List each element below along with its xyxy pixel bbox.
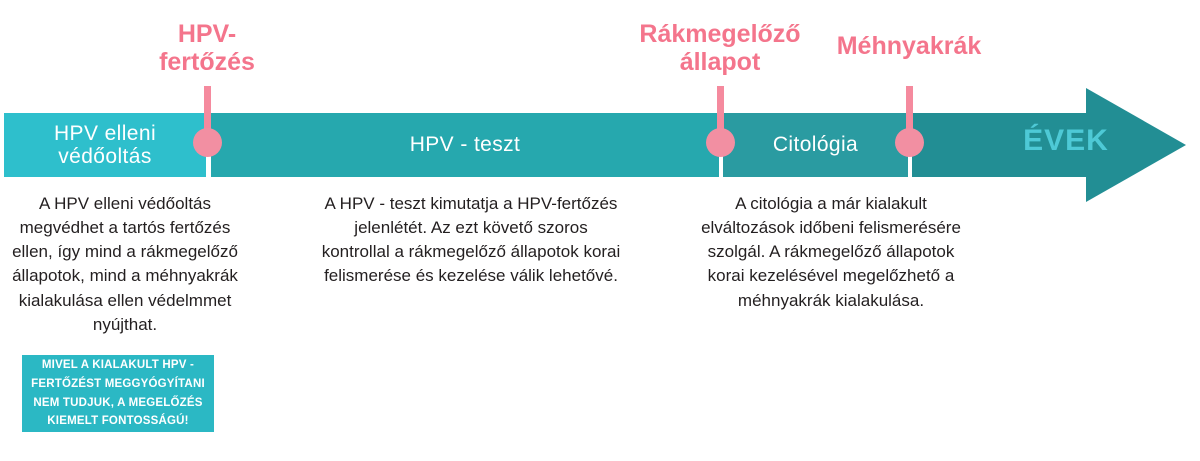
marker-cervical-cancer-label: Méhnyakrák	[759, 32, 1059, 60]
description-hpv-test: A HPV - teszt kimutatja a HPV-fertőzés j…	[320, 192, 622, 289]
description-cytology: A citológia a már kialakult elváltozások…	[690, 192, 972, 313]
timeline-segment-vaccination: HPV elleni védőoltás	[4, 113, 206, 177]
timeline-segment-hpv-test-label: HPV - teszt	[410, 133, 521, 156]
marker-hpv-infection-label: HPV- fertőzés	[97, 20, 317, 76]
timeline-segment-cytology: Citológia	[723, 113, 908, 177]
marker-cervical-cancer-dot-icon	[895, 128, 924, 157]
timeline-segment-vaccination-label: HPV elleni védőoltás	[54, 122, 156, 168]
marker-hpv-infection-dot-icon	[193, 128, 222, 157]
timeline-years-label: ÉVEK	[1006, 126, 1126, 156]
timeline-segment-hpv-test: HPV - teszt	[211, 113, 719, 177]
prevention-callout-text: MIVEL A KIALAKULT HPV - FERTŐZÉST MEGGYÓ…	[31, 356, 205, 431]
timeline-segment-cytology-label: Citológia	[773, 133, 858, 156]
marker-precancer-dot-icon	[706, 128, 735, 157]
prevention-callout-box: MIVEL A KIALAKULT HPV - FERTŐZÉST MEGGYÓ…	[22, 355, 214, 432]
description-vaccination: A HPV elleni védőoltás megvédhet a tartó…	[0, 192, 250, 337]
infographic-timeline: HPV elleni védőoltás HPV - teszt Citológ…	[0, 0, 1200, 461]
